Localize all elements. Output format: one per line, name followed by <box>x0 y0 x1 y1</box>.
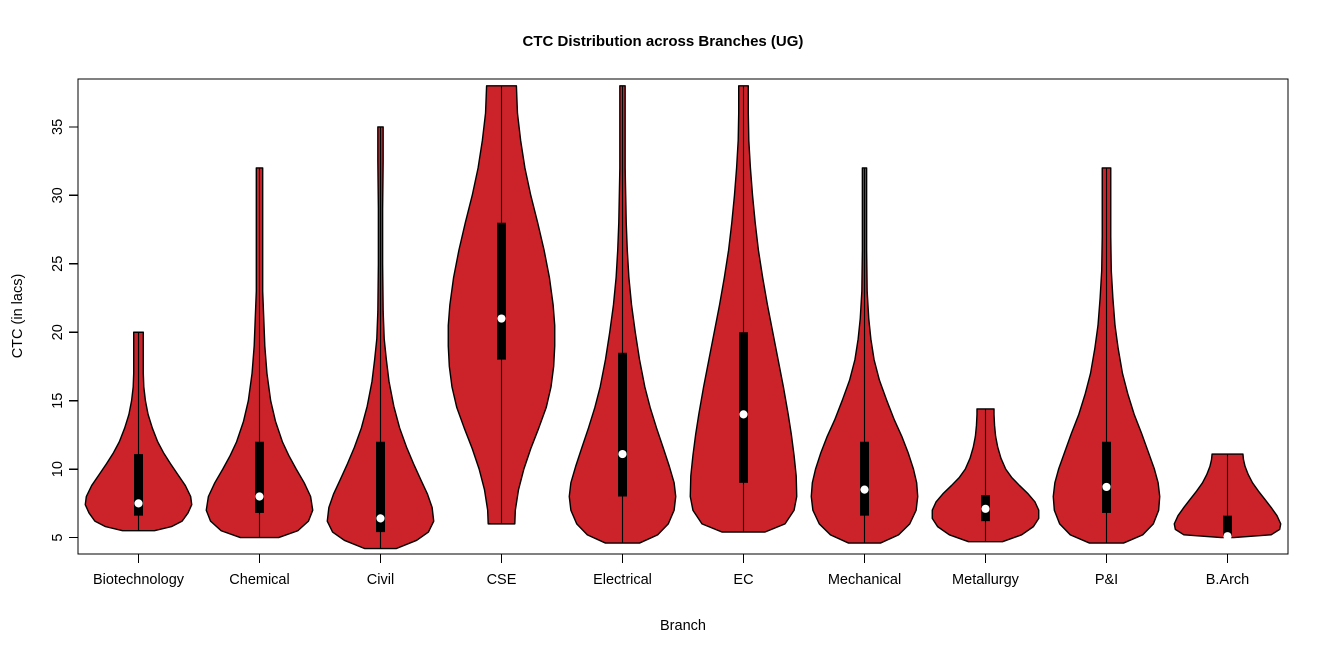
plot-title: CTC Distribution across Branches (UG) <box>523 33 804 50</box>
y-tick-label: 10 <box>50 461 66 477</box>
median-marker <box>739 410 747 418</box>
x-tick-label-metallurgy: Metallurgy <box>952 572 1020 588</box>
x-tick-label-cse: CSE <box>487 572 517 588</box>
median-marker <box>376 514 384 522</box>
iqr-box <box>618 353 627 497</box>
x-tick-label-chemical: Chemical <box>229 572 289 588</box>
iqr-box <box>739 332 748 483</box>
y-axis-title: CTC (in lacs) <box>10 274 26 359</box>
median-marker <box>1223 532 1231 540</box>
median-marker <box>981 505 989 513</box>
x-tick-label-p-i: P&I <box>1095 572 1118 588</box>
median-marker <box>134 499 142 507</box>
iqr-box <box>860 442 869 516</box>
y-tick-label: 25 <box>50 256 66 272</box>
median-marker <box>497 314 505 322</box>
median-marker <box>1102 483 1110 491</box>
x-tick-label-b-arch: B.Arch <box>1206 572 1250 588</box>
y-tick-label: 5 <box>50 534 66 542</box>
median-marker <box>255 492 263 500</box>
median-marker <box>860 486 868 494</box>
iqr-box <box>1102 442 1111 513</box>
x-tick-label-mechanical: Mechanical <box>828 572 901 588</box>
iqr-box <box>497 223 506 360</box>
y-tick-label: 20 <box>50 324 66 340</box>
median-marker <box>618 450 626 458</box>
x-axis-title: Branch <box>660 618 706 634</box>
y-tick-label: 35 <box>50 119 66 135</box>
x-tick-label-civil: Civil <box>367 572 394 588</box>
x-tick-label-biotechnology: Biotechnology <box>93 572 185 588</box>
x-tick-label-ec: EC <box>733 572 753 588</box>
violin-plot-canvas: CTC Distribution across Branches (UG) CT… <box>0 0 1327 653</box>
iqr-box <box>255 442 264 513</box>
x-tick-label-electrical: Electrical <box>593 572 652 588</box>
plot-background <box>0 0 1327 653</box>
violin-plot-figure: CTC Distribution across Branches (UG) CT… <box>0 0 1327 653</box>
y-tick-label: 15 <box>50 393 66 409</box>
y-tick-label: 30 <box>50 187 66 203</box>
